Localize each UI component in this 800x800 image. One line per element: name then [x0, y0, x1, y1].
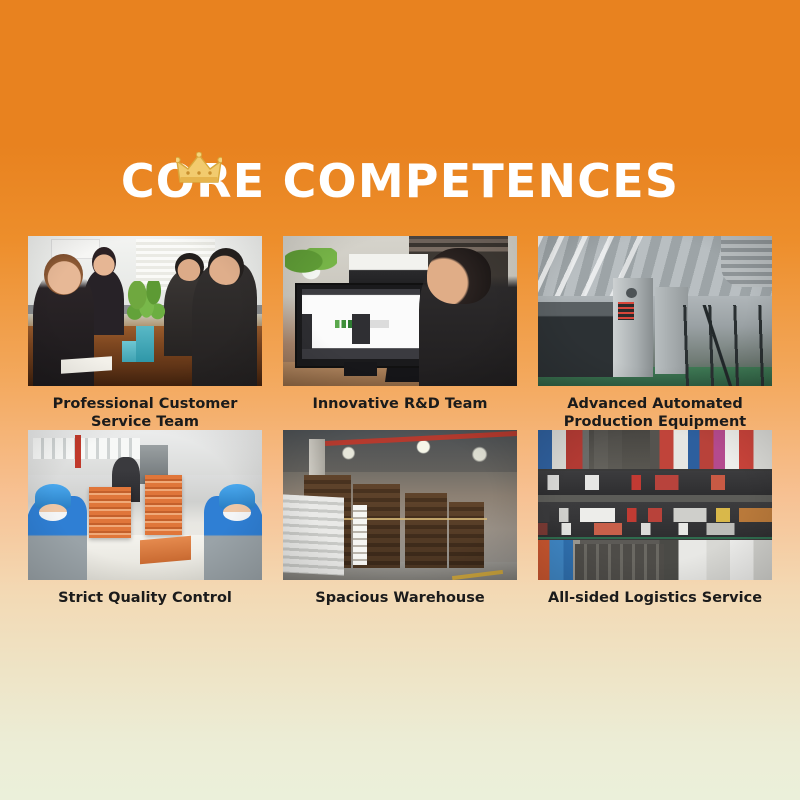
photo-rnd-workstation: [283, 236, 517, 386]
caption-line: Spacious Warehouse: [283, 589, 517, 607]
competence-caption-innovative-rnd-team: Innovative R&D Team: [283, 386, 517, 430]
competences-grid: Professional Customer Service Team Innov…: [28, 236, 772, 624]
competence-image-innovative-rnd-team[interactable]: [283, 236, 517, 386]
competence-image-advanced-automated-production-equipment[interactable]: [538, 236, 772, 386]
photo-warehouse: [283, 430, 517, 580]
competence-caption-advanced-automated-production-equipment: Advanced Automated Production Equipment: [538, 386, 772, 430]
competence-card-all-sided-logistics-service[interactable]: All-sided Logistics Service: [538, 430, 772, 624]
competence-caption-professional-customer-service-team: Professional Customer Service Team: [28, 386, 262, 430]
competence-card-professional-customer-service-team[interactable]: Professional Customer Service Team: [28, 236, 262, 430]
competence-image-all-sided-logistics-service[interactable]: [538, 430, 772, 580]
caption-line: Advanced Automated: [538, 395, 772, 413]
photo-printing-press: [538, 236, 772, 386]
competence-card-innovative-rnd-team[interactable]: Innovative R&D Team: [283, 236, 517, 430]
caption-line: Strict Quality Control: [28, 589, 262, 607]
competence-image-spacious-warehouse[interactable]: [283, 430, 517, 580]
caption-line: All-sided Logistics Service: [538, 589, 772, 607]
caption-line: Professional Customer: [28, 395, 262, 413]
competence-card-advanced-automated-production-equipment[interactable]: Advanced Automated Production Equipment: [538, 236, 772, 430]
competence-caption-strict-quality-control: Strict Quality Control: [28, 580, 262, 624]
core-competences-banner: CORE COMPETENCES Professional Customer: [0, 0, 800, 800]
caption-line: Innovative R&D Team: [283, 395, 517, 413]
competence-caption-all-sided-logistics-service: All-sided Logistics Service: [538, 580, 772, 624]
photo-quality-control: [28, 430, 262, 580]
photo-meeting-room: [28, 236, 262, 386]
caption-line: Service Team: [28, 413, 262, 431]
caption-line: Production Equipment: [538, 413, 772, 431]
photo-logistics-aerial: [538, 430, 772, 580]
page-header: CORE COMPETENCES: [0, 152, 800, 210]
competence-image-professional-customer-service-team[interactable]: [28, 236, 262, 386]
competence-image-strict-quality-control[interactable]: [28, 430, 262, 580]
page-title: CORE COMPETENCES: [121, 152, 679, 210]
competence-card-spacious-warehouse[interactable]: Spacious Warehouse: [283, 430, 517, 624]
competence-caption-spacious-warehouse: Spacious Warehouse: [283, 580, 517, 624]
competence-card-strict-quality-control[interactable]: Strict Quality Control: [28, 430, 262, 624]
